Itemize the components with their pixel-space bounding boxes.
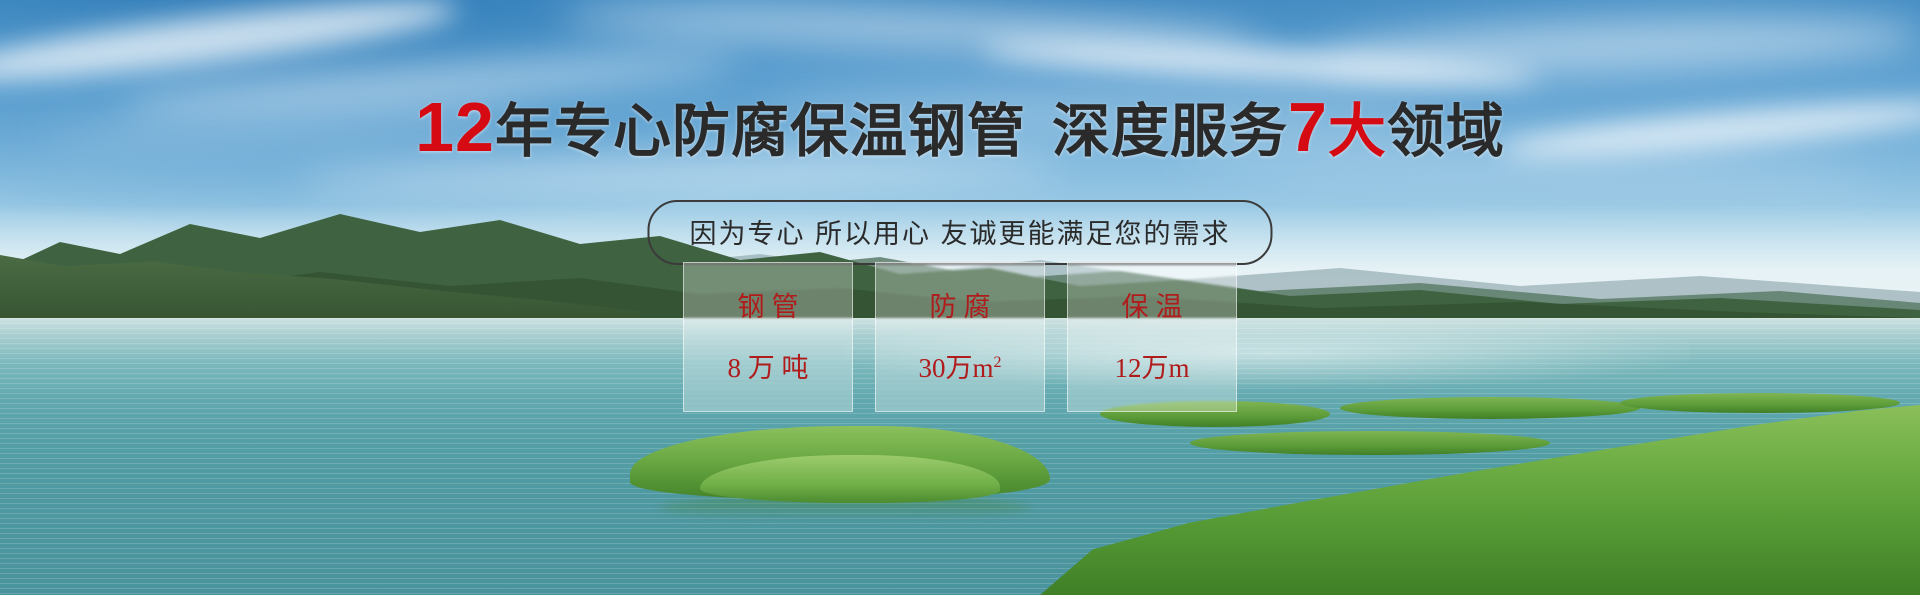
headline-red-suffix: 大 <box>1328 99 1387 164</box>
marsh-patch-c <box>1620 393 1900 413</box>
subtitle-text: 因为专心 所以用心 友诚更能满足您的需求 <box>689 219 1230 249</box>
page-title: 12年专心防腐保温钢管深度服务7大领域 <box>0 84 1920 168</box>
headline-part-one: 年专心防腐保温钢管 <box>495 99 1026 164</box>
stat-card-label: 保温 <box>1078 285 1226 324</box>
headline-part-two: 深度服务 <box>1052 99 1288 164</box>
stat-card-label: 防腐 <box>886 285 1034 324</box>
marsh-patch-d <box>1190 431 1550 455</box>
stat-card-label: 钢管 <box>694 285 842 324</box>
foreground-grass <box>0 543 1920 595</box>
headline-domains-number: 7 <box>1288 88 1328 166</box>
headline-part-three: 领域 <box>1387 99 1505 164</box>
stat-value-text: 12万m <box>1114 353 1189 383</box>
hero-banner: 12年专心防腐保温钢管深度服务7大领域 因为专心 所以用心 友诚更能满足您的需求… <box>0 0 1920 595</box>
stat-card-value: 12万m <box>1078 346 1226 385</box>
stat-value-text: 8 万 吨 <box>728 353 809 383</box>
stat-card-value: 30万m2 <box>886 346 1034 385</box>
stat-card-group: 钢管 8 万 吨 防腐 30万m2 保温 12万m <box>683 262 1237 412</box>
stat-value-text: 30万m <box>918 353 993 383</box>
subtitle-pill: 因为专心 所以用心 友诚更能满足您的需求 <box>647 200 1272 265</box>
stat-card-insulation: 保温 12万m <box>1067 262 1237 412</box>
stat-card-anticorrosion: 防腐 30万m2 <box>875 262 1045 412</box>
stat-card-steel-pipe: 钢管 8 万 吨 <box>683 262 853 412</box>
headline-years-number: 12 <box>415 88 495 166</box>
stat-card-value: 8 万 吨 <box>694 346 842 385</box>
marsh-patch-b <box>1340 397 1640 419</box>
stat-value-superscript: 2 <box>994 354 1002 371</box>
